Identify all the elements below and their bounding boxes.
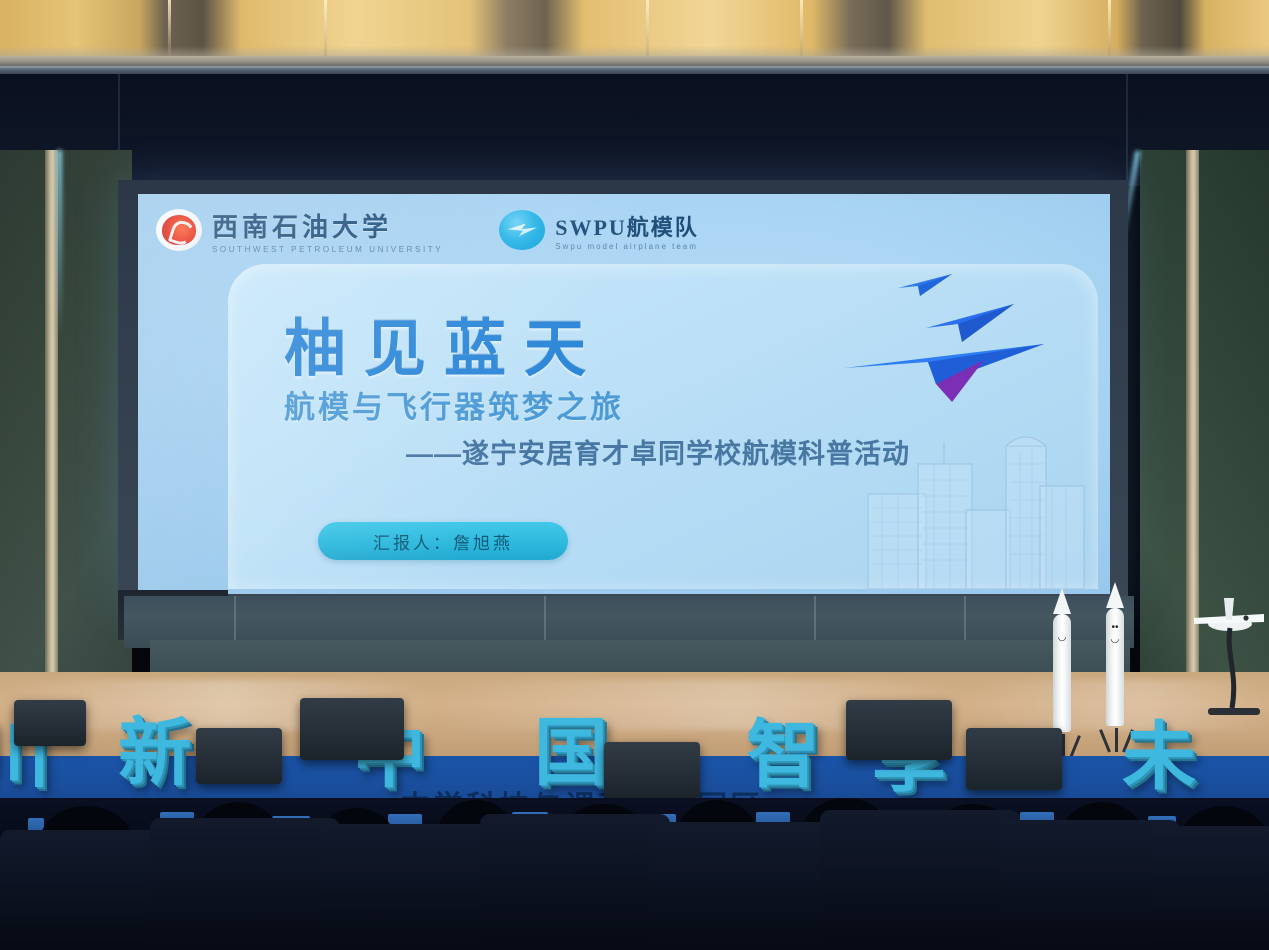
light-beam-left	[57, 150, 62, 340]
audience-area	[0, 798, 1269, 950]
stage-equipment-box-5	[846, 700, 952, 760]
stage-equipment-box-1	[14, 700, 86, 746]
paper-airplane-icon-large	[844, 326, 1054, 404]
slide-title-main: 柚见蓝天	[284, 298, 604, 388]
presenter-name: 詹旭燕	[453, 529, 513, 554]
slide-content-card: 柚见蓝天 航模与飞行器筑梦之旅 ——遂宁安居育才卓同学校航模科普活动 汇报人 ：…	[228, 264, 1098, 589]
ceiling-panels	[0, 0, 1269, 62]
audience-silhouette	[820, 810, 1020, 950]
audience-silhouette	[650, 822, 840, 950]
team-name-cn: SWPU航模队	[555, 210, 699, 242]
flame-emblem-icon	[156, 209, 202, 251]
paper-airplane-group	[868, 264, 1098, 404]
projection-screen: 西南石油大学 SOUTHWEST PETROLEUM UNIVERSITY SW…	[138, 194, 1110, 594]
team-name-en: Swpu model airplane team	[555, 242, 699, 251]
stage-equipment-box-2	[196, 728, 282, 784]
presenter-separator: ：	[433, 529, 453, 554]
model-airplane-on-stand	[1186, 590, 1269, 735]
paper-airplane-icon-small	[898, 272, 954, 298]
stage-equipment-box-6	[966, 728, 1062, 790]
slide-logo-row: 西南石油大学 SOUTHWEST PETROLEUM UNIVERSITY SW…	[156, 202, 856, 258]
slide-title-sub: 航模与飞行器筑梦之旅	[284, 382, 624, 427]
stage-equipment-box-4	[604, 742, 700, 798]
audience-silhouette	[1150, 826, 1269, 950]
audience-silhouette	[480, 814, 670, 950]
stage-equipment-box-3	[300, 698, 404, 760]
presenter-label: 汇报人	[373, 529, 433, 554]
audience-silhouette	[150, 818, 340, 950]
presenter-badge: 汇报人 ： 詹旭燕	[318, 522, 568, 560]
bird-emblem-icon	[499, 210, 545, 250]
left-wall	[0, 150, 132, 730]
upper-wall	[0, 74, 1269, 186]
banner-char-0: 新	[118, 716, 192, 790]
banner-char-2: 国	[534, 716, 608, 790]
university-name-en: SOUTHWEST PETROLEUM UNIVERSITY	[212, 245, 443, 254]
audience-silhouette	[320, 824, 500, 950]
banner-char-5: 未	[1122, 720, 1196, 794]
model-airplane-team-logo: SWPU航模队 Swpu model airplane team	[499, 210, 699, 251]
banner-char-3: 智	[746, 718, 820, 792]
swpu-university-logo: 西南石油大学 SOUTHWEST PETROLEUM UNIVERSITY	[156, 207, 443, 254]
university-name-cn: 西南石油大学	[212, 207, 443, 244]
slide-title-sub2: ——遂宁安居育才卓同学校航模科普活动	[406, 432, 910, 471]
auditorium-scene: 西南石油大学 SOUTHWEST PETROLEUM UNIVERSITY SW…	[0, 0, 1269, 950]
